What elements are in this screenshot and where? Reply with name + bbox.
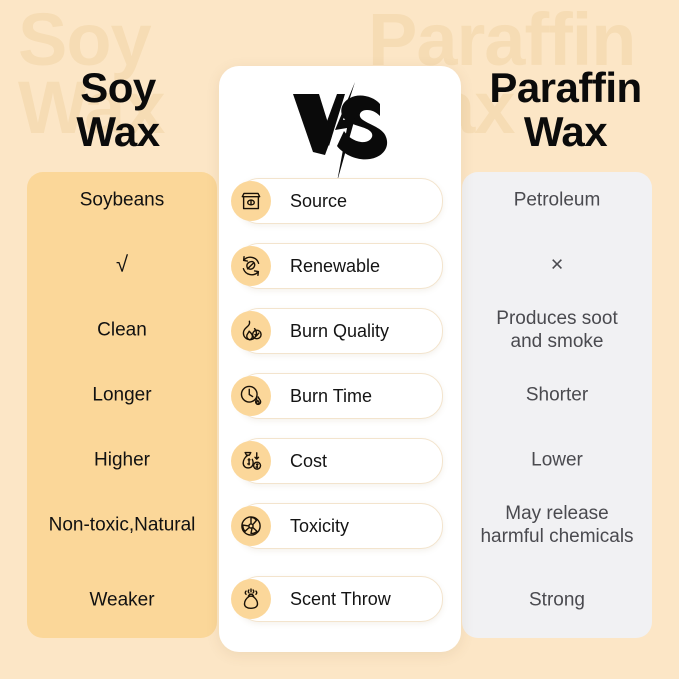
soy-wax-value: Non-toxic,Natural xyxy=(23,513,221,536)
feature-label: Toxicity xyxy=(290,516,349,537)
soy-wax-value: Clean xyxy=(23,318,221,341)
feature-row[interactable]: Cost xyxy=(237,438,443,484)
vs-logo-icon xyxy=(285,80,395,184)
radiation-hazard-icon xyxy=(231,506,271,546)
paraffin-wax-value: Lower xyxy=(458,448,656,471)
paraffin-wax-value: Petroleum xyxy=(458,188,656,211)
clock-flame-icon xyxy=(231,376,271,416)
soy-wax-value: Longer xyxy=(23,383,221,406)
feature-row[interactable]: Scent Throw xyxy=(237,576,443,622)
feature-label: Source xyxy=(290,191,347,212)
feature-row[interactable]: Renewable xyxy=(237,243,443,289)
paraffin-wax-value: Strong xyxy=(458,588,656,611)
feature-label: Burn Quality xyxy=(290,321,389,342)
paraffin-wax-value-panel: Petroleum×Produces soot and smokeShorter… xyxy=(462,172,652,638)
soy-wax-value: √ xyxy=(23,252,221,279)
feature-list-card: SourceRenewableBurn QualityBurn TimeCost… xyxy=(219,66,461,652)
heading-soy-wax: Soy Wax xyxy=(0,66,236,154)
feature-row[interactable]: Toxicity xyxy=(237,503,443,549)
soy-wax-value-panel: Soybeans√CleanLongerHigherNon-toxic,Natu… xyxy=(27,172,217,638)
paraffin-wax-value: May release harmful chemicals xyxy=(458,502,656,548)
recycle-leaf-icon xyxy=(231,246,271,286)
soy-wax-value: Soybeans xyxy=(23,188,221,211)
money-bag-icon xyxy=(231,441,271,481)
feature-row[interactable]: Burn Time xyxy=(237,373,443,419)
flame-check-icon xyxy=(231,311,271,351)
feature-label: Renewable xyxy=(290,256,380,277)
paraffin-wax-value: Shorter xyxy=(458,383,656,406)
seed-sack-icon xyxy=(231,181,271,221)
soy-wax-value: Weaker xyxy=(23,588,221,611)
feature-label: Scent Throw xyxy=(290,589,391,610)
feature-row[interactable]: Source xyxy=(237,178,443,224)
infographic-canvas: Soy Wax Paraffin Wax Soy Wax Paraffin Wa… xyxy=(0,0,679,679)
paraffin-wax-value: × xyxy=(458,252,656,279)
soy-wax-value: Higher xyxy=(23,448,221,471)
feature-label: Cost xyxy=(290,451,327,472)
feature-row[interactable]: Burn Quality xyxy=(237,308,443,354)
scent-bag-icon xyxy=(231,579,271,619)
heading-paraffin-wax: Paraffin Wax xyxy=(452,66,679,154)
feature-label: Burn Time xyxy=(290,386,372,407)
paraffin-wax-value: Produces soot and smoke xyxy=(458,307,656,353)
